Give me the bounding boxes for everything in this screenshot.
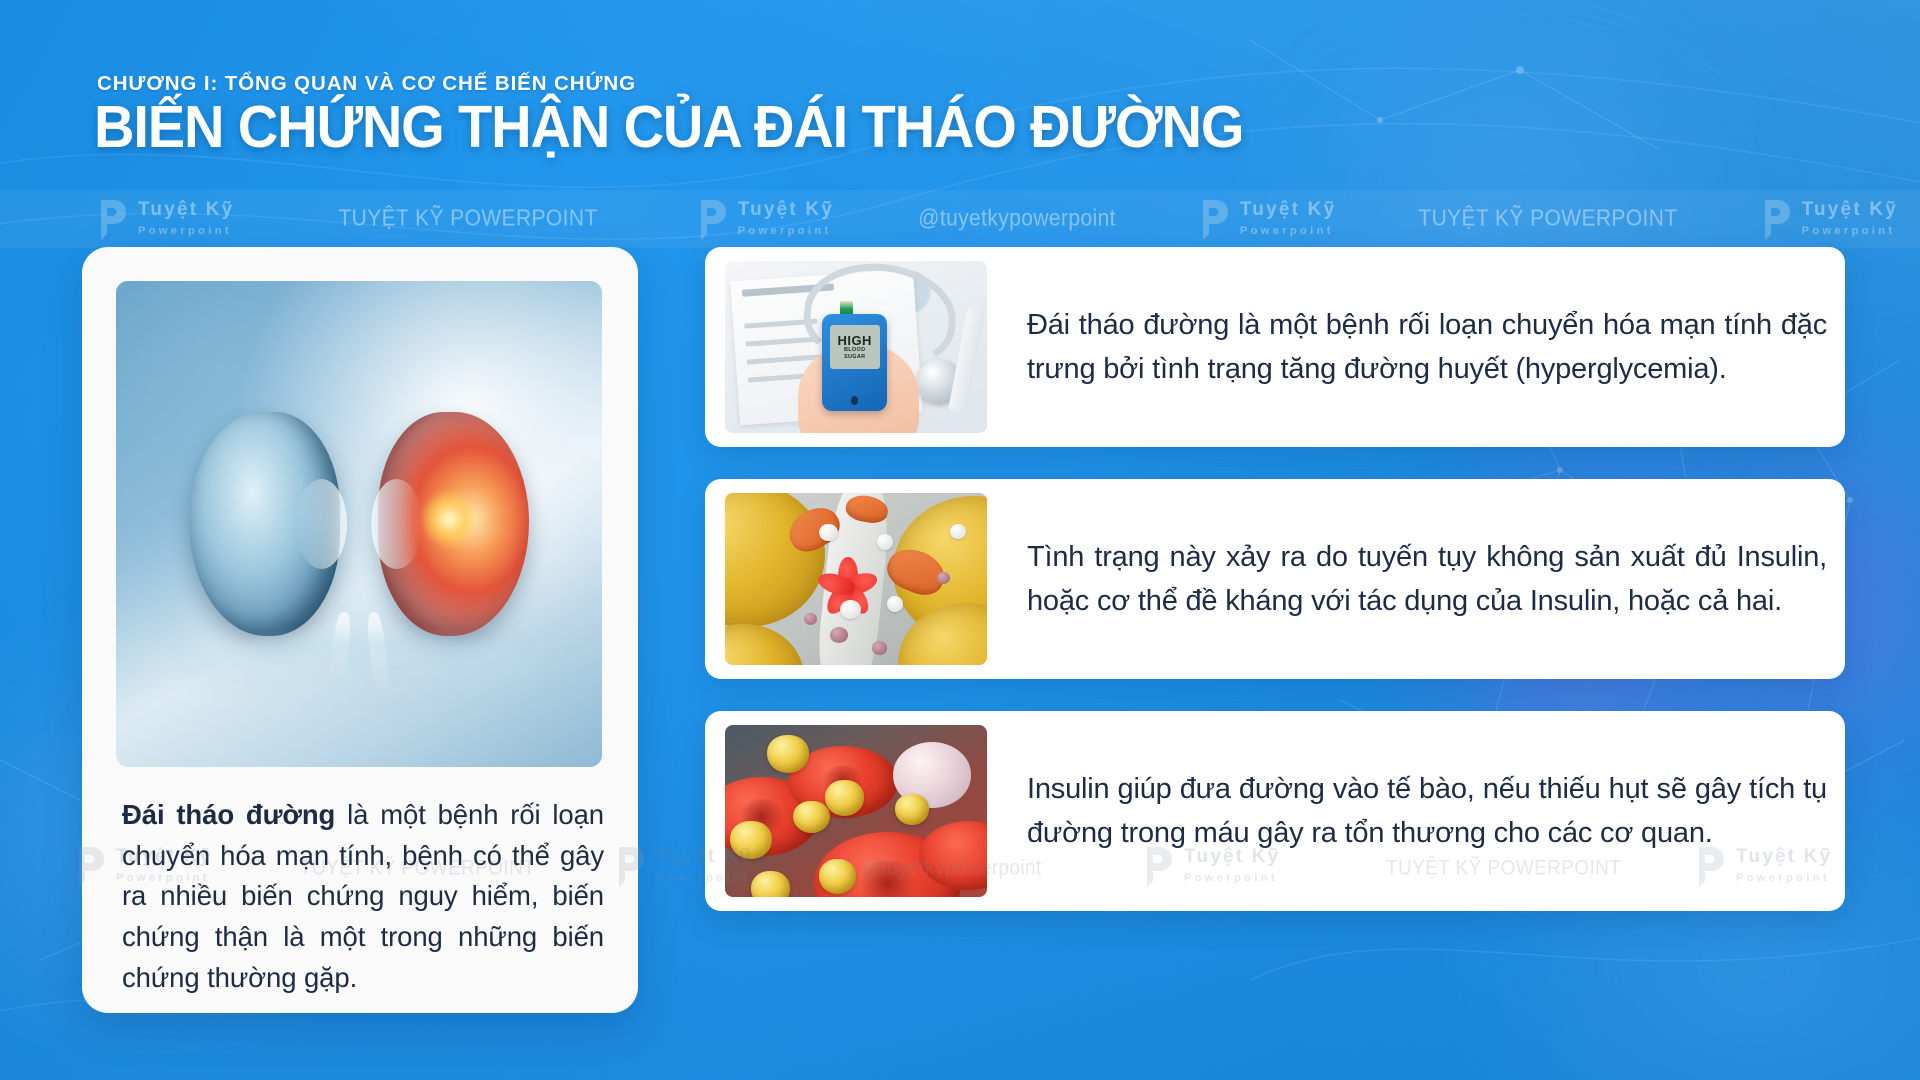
watermark-handle: @tuyetkypowerpoint xyxy=(918,207,1116,231)
content-row-3: Insulin giúp đưa đường vào tế bào, nếu t… xyxy=(705,711,1845,911)
watermark-text: TUYỆT KỸ POWERPOINT xyxy=(1418,207,1677,231)
tuyetky-logo-icon xyxy=(1758,198,1792,240)
glucose-particle-graphic xyxy=(895,794,929,825)
content-row-3-text: Insulin giúp đưa đường vào tế bào, nếu t… xyxy=(987,761,1845,861)
content-row-2: Tình trạng này xảy ra do tuyến tụy không… xyxy=(705,479,1845,679)
kidney-reflection xyxy=(174,636,543,704)
watermark-brand-line1: Tuyệt Kỹ xyxy=(738,199,834,220)
glucometer-device-graphic: HIGH BLOOD SUGAR xyxy=(822,314,888,410)
glucometer-reading-value: HIGH xyxy=(837,334,872,347)
glucometer-screen: HIGH BLOOD SUGAR xyxy=(830,325,880,369)
watermark-brand-line2: Powerpoint xyxy=(1240,225,1334,237)
kidney-left-graphic xyxy=(189,412,340,636)
watermark-logo: Tuyệt Kỹ Powerpoint xyxy=(694,198,834,240)
microbe-graphic xyxy=(872,641,888,655)
kidney-illustration-image xyxy=(116,281,602,767)
watermark-caps-label: TUYỆT KỸ POWERPOINT xyxy=(1418,206,1677,233)
content-row-2-text: Tình trạng này xảy ra do tuyến tụy không… xyxy=(987,529,1845,629)
glucometer-thumbnail-image: HIGH BLOOD SUGAR xyxy=(725,261,987,433)
watermark-brand-line1: Tuyệt Kỹ xyxy=(1802,199,1898,220)
watermark-logo-text: Tuyệt Kỹ Powerpoint xyxy=(738,200,834,238)
protein-dot-graphic xyxy=(877,534,893,549)
glucose-particle-graphic xyxy=(819,859,856,893)
slide-canvas: CHƯƠNG I: TỔNG QUAN VÀ CƠ CHẾ BIẾN CHỨNG… xyxy=(0,0,1920,1080)
watermark-caps-label: TUYỆT KỸ POWERPOINT xyxy=(338,206,597,233)
watermark-logo: Tuyệt Kỹ Powerpoint xyxy=(1196,198,1336,240)
slide-header: CHƯƠNG I: TỔNG QUAN VÀ CƠ CHẾ BIẾN CHỨNG… xyxy=(0,0,1920,196)
watermark-brand-line2: Powerpoint xyxy=(138,225,232,237)
watermark-logo-text: Tuyệt Kỹ Powerpoint xyxy=(1802,200,1898,238)
glucose-particle-graphic xyxy=(825,780,864,816)
watermark-logo: Tuyệt Kỹ Powerpoint xyxy=(1758,198,1898,240)
protein-dot-graphic xyxy=(819,524,837,541)
glucose-particle-graphic xyxy=(751,871,790,897)
watermark-brand-line1: Tuyệt Kỹ xyxy=(138,199,234,220)
watermark-brand-line2: Powerpoint xyxy=(1802,225,1896,237)
left-feature-card: Đái tháo đường là một bệnh rối loạn chuy… xyxy=(82,247,638,1013)
right-content-column: HIGH BLOOD SUGAR Đái tháo đường là một b… xyxy=(705,247,1845,911)
kidney-damage-highlight xyxy=(422,490,475,548)
content-row-1-text: Đái tháo đường là một bệnh rối loạn chuy… xyxy=(987,297,1845,397)
watermark-brand-line2: Powerpoint xyxy=(738,225,832,237)
tuyetky-logo-icon xyxy=(94,198,128,240)
chapter-label: CHƯƠNG I: TỔNG QUAN VÀ CƠ CHẾ BIẾN CHỨNG xyxy=(97,72,636,96)
page-title: BIẾN CHỨNG THẬN CỦA ĐÁI THÁO ĐƯỜNG xyxy=(94,98,1243,157)
glucose-particle-graphic xyxy=(793,801,830,834)
content-row-1: HIGH BLOOD SUGAR Đái tháo đường là một b… xyxy=(705,247,1845,447)
left-card-lead-text: Đái tháo đường xyxy=(122,799,335,830)
watermark-logo: Tuyệt Kỹ Powerpoint xyxy=(94,198,234,240)
blood-cells-thumbnail-image xyxy=(725,725,987,897)
watermark-handle-label: @tuyetkypowerpoint xyxy=(918,206,1116,233)
fat-cell-graphic xyxy=(725,624,804,665)
protein-dot-graphic xyxy=(887,596,903,611)
watermark-logo-text: Tuyệt Kỹ Powerpoint xyxy=(1240,200,1336,238)
pancreas-cells-thumbnail-image xyxy=(725,493,987,665)
microbe-graphic xyxy=(830,627,848,642)
glucometer-reading-label-2: SUGAR xyxy=(844,354,865,361)
left-card-body-text: Đái tháo đường là một bệnh rối loạn chuy… xyxy=(122,795,604,998)
glucometer-reading-label-1: BLOOD xyxy=(844,347,865,354)
glucose-particle-graphic xyxy=(767,735,809,773)
protein-dot-graphic xyxy=(840,600,861,619)
tuyetky-logo-icon xyxy=(694,198,728,240)
watermark-strip: Tuyệt Kỹ Powerpoint TUYỆT KỸ POWERPOINT … xyxy=(0,190,1920,248)
watermark-brand-line1: Tuyệt Kỹ xyxy=(1240,199,1336,220)
glucometer-button xyxy=(851,396,858,405)
watermark-text: TUYỆT KỸ POWERPOINT xyxy=(338,207,597,231)
watermark-logo-text: Tuyệt Kỹ Powerpoint xyxy=(138,200,234,238)
tuyetky-logo-icon xyxy=(1196,198,1230,240)
microbe-graphic xyxy=(804,613,817,625)
